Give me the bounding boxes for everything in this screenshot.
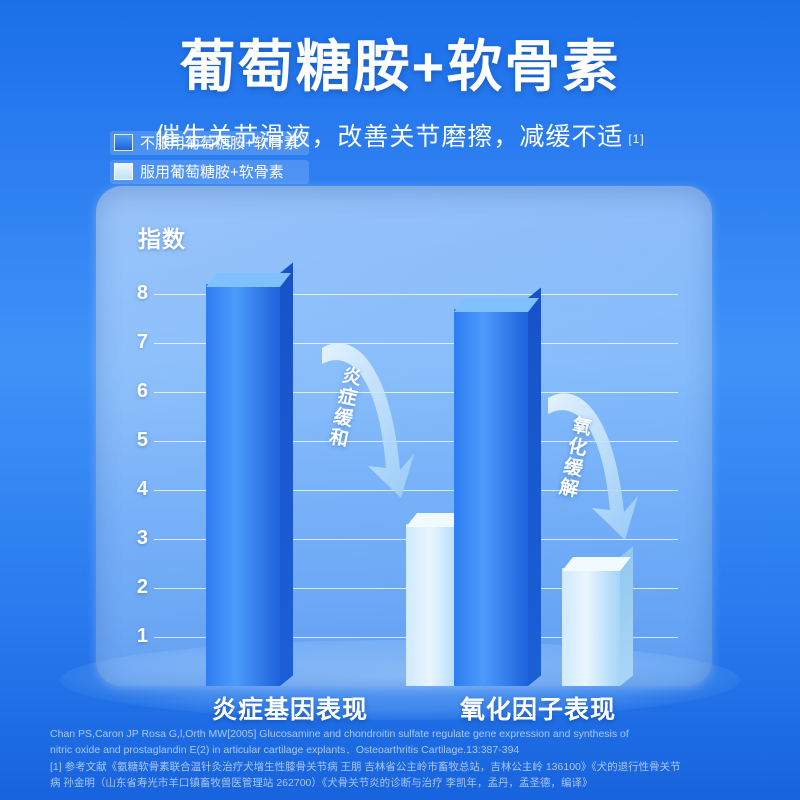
footnote-line-3: [1] 参考文献《氨糖软骨素联合温针灸治疗犬增生性膝骨关节病 王朋 吉林省公主岭… — [50, 760, 760, 775]
legend-swatch-dark — [114, 134, 133, 151]
footnote-line-2: nitric oxide and prostaglandin E(2) in a… — [50, 743, 760, 758]
legend-label-with-supplement: 服用葡萄糖胺+软骨素 — [140, 161, 284, 182]
y-tick-label-7: 7 — [126, 331, 148, 354]
y-tick-label-5: 5 — [126, 429, 148, 452]
chart-legend: 不服用葡萄糖胺+软骨素 服用葡萄糖胺+软骨素 — [110, 131, 309, 184]
subtitle-reference-marker: [1] — [628, 132, 644, 146]
footnote-line-4: 病 孙金明（山东省寿光市羊口镇畜牧兽医管理站 262700）《犬骨关节炎的诊断与… — [50, 776, 760, 791]
y-tick-label-4: 4 — [126, 478, 148, 501]
bar-top — [562, 557, 631, 571]
chart-area: 指数 12345678 — [96, 186, 712, 706]
legend-label-no-supplement: 不服用葡萄糖胺+软骨素 — [140, 132, 299, 153]
y-tick-label-6: 6 — [126, 380, 148, 403]
y-axis-title: 指数 — [138, 220, 186, 254]
bar-2-series-2 — [562, 568, 620, 686]
footnotes: Chan PS,Caron JP Rosa G,l,Orth MW[2005] … — [50, 727, 760, 792]
bar-top — [206, 273, 291, 287]
bar-side — [280, 263, 293, 686]
page-title: 葡萄糖胺+软骨素 — [0, 0, 800, 103]
y-tick-label-2: 2 — [126, 576, 148, 599]
category-label-1: 炎症基因表现 — [180, 690, 400, 726]
footnote-line-1: Chan PS,Caron JP Rosa G,l,Orth MW[2005] … — [50, 727, 760, 742]
y-tick-label-1: 1 — [126, 625, 148, 648]
y-tick-label-8: 8 — [126, 282, 148, 305]
bar-2-series-1 — [454, 309, 528, 686]
bar-face — [206, 284, 280, 686]
bar-1-series-1 — [206, 284, 280, 686]
bar-face — [562, 568, 620, 686]
legend-item-no-supplement: 不服用葡萄糖胺+软骨素 — [110, 131, 309, 155]
category-label-2: 氧化因子表现 — [428, 690, 648, 726]
y-tick-label-3: 3 — [126, 527, 148, 550]
legend-item-with-supplement: 服用葡萄糖胺+软骨素 — [110, 160, 309, 184]
bar-side — [528, 287, 541, 686]
legend-swatch-light — [114, 163, 133, 180]
bar-top — [454, 298, 539, 312]
bar-face — [454, 309, 528, 686]
